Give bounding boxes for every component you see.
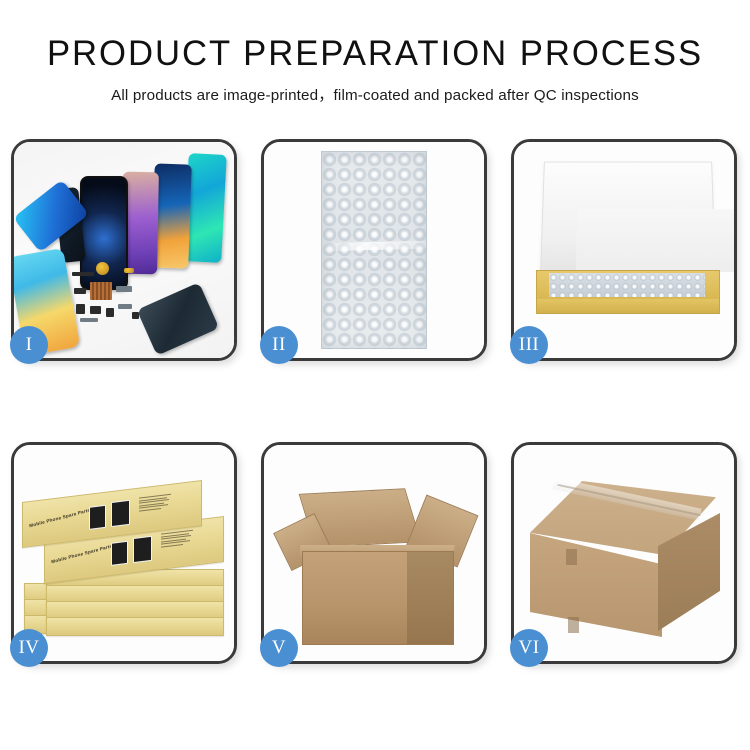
step-panel-6: VI [511, 442, 737, 664]
step-badge-6: VI [510, 629, 548, 667]
step-badge-2: II [260, 326, 298, 364]
step-6-image [514, 445, 734, 661]
stacked-boxes-icon: Mobile Phone Spare Parts Mobile Phone Sp… [20, 465, 234, 655]
box-label-text: Mobile Phone Spare Parts [29, 507, 91, 528]
step-5-image [264, 445, 484, 661]
step-1-image [14, 142, 234, 358]
step-3-image [514, 142, 734, 358]
box-label-text: Mobile Phone Spare Parts [51, 543, 113, 564]
product-preparation-infographic: PRODUCT PREPARATION PROCESS All products… [0, 0, 750, 750]
step-panel-4: Mobile Phone Spare Parts Mobile Phone Sp… [11, 442, 237, 664]
sealed-carton-icon [530, 471, 724, 647]
step-2-image [264, 142, 484, 358]
page-title: PRODUCT PREPARATION PROCESS [4, 36, 747, 73]
step-panel-2: II [261, 139, 487, 361]
step-badge-3: III [510, 326, 548, 364]
step-badge-4: IV [10, 629, 48, 667]
bubble-wrap-icon [321, 151, 427, 349]
open-carton-icon [278, 479, 476, 645]
step-panel-1: I [11, 139, 237, 361]
spare-parts-icon [72, 260, 192, 338]
header: PRODUCT PREPARATION PROCESS All products… [0, 36, 750, 105]
step-4-image: Mobile Phone Spare Parts Mobile Phone Sp… [14, 445, 234, 661]
step-badge-1: I [10, 326, 48, 364]
step-badge-5: V [260, 629, 298, 667]
step-panel-3: III [511, 139, 737, 361]
process-steps-grid: I II III [11, 139, 739, 664]
step-panel-5: V [261, 442, 487, 664]
page-subtitle: All products are image-printed，film-coat… [0, 83, 750, 105]
kraft-tray-icon [536, 270, 720, 314]
white-box-lid-icon [540, 162, 716, 275]
